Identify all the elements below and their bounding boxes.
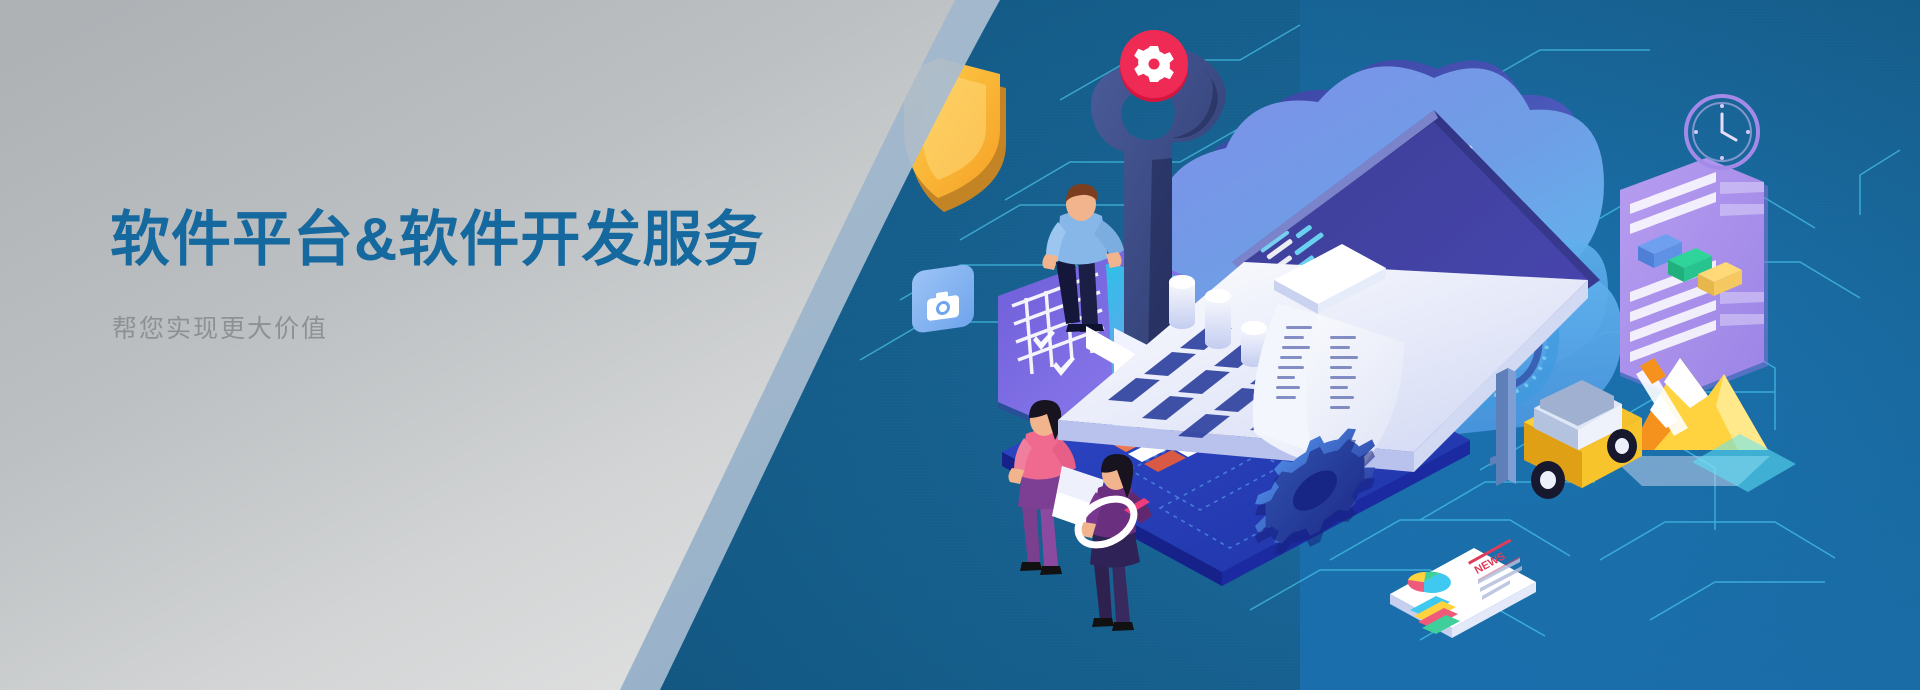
- clock-icon: [1686, 96, 1758, 168]
- page-title: 软件平台&软件开发服务: [110, 205, 870, 275]
- hero-banner: NEWS: [0, 0, 1920, 690]
- headline-block: 软件平台&软件开发服务 帮您实现更大价值: [110, 205, 870, 345]
- gear-badge-icon: [1120, 30, 1188, 102]
- news-card: NEWS: [1390, 539, 1536, 638]
- gray-panel: [0, 0, 1100, 690]
- forklift-vehicle: [1490, 368, 1642, 499]
- page-subtitle: 帮您实现更大价值: [112, 309, 870, 345]
- document-panel: [1620, 158, 1768, 400]
